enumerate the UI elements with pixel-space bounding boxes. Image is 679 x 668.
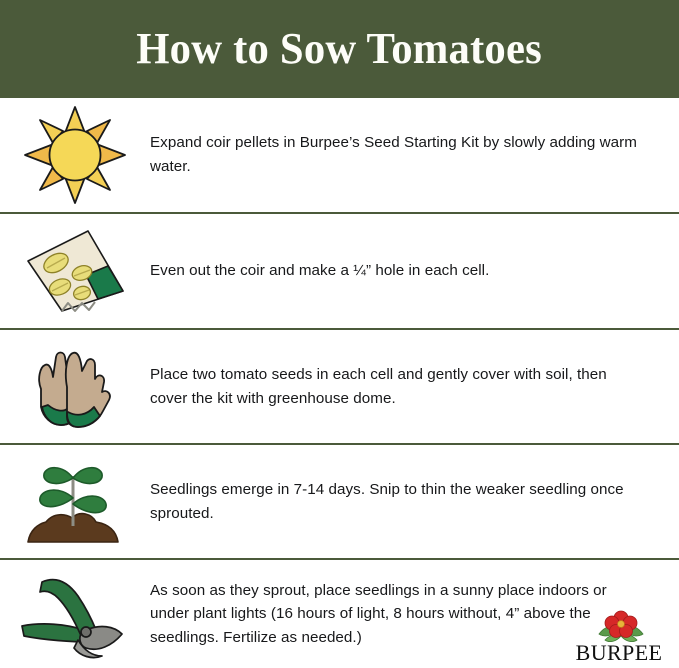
- step-row: Place two tomato seeds in each cell and …: [0, 330, 679, 445]
- step-row: Seedlings emerge in 7-14 days. Snip to t…: [0, 445, 679, 560]
- step-icon-cell: [0, 568, 150, 660]
- header-banner: How to Sow Tomatoes: [0, 0, 679, 98]
- step-text: Expand coir pellets in Burpee’s Seed Sta…: [150, 131, 679, 178]
- seed-packet-icon: [20, 225, 130, 317]
- gardening-gloves-icon: [23, 337, 127, 437]
- pruning-shears-icon: [16, 568, 134, 660]
- step-text: Place two tomato seeds in each cell and …: [150, 363, 679, 410]
- burpee-logo: BURPEE: [567, 610, 671, 666]
- step-icon-cell: [0, 225, 150, 317]
- step-row: Expand coir pellets in Burpee’s Seed Sta…: [0, 98, 679, 214]
- step-icon-cell: [0, 337, 150, 437]
- red-flower-icon: [597, 610, 645, 644]
- step-text: Seedlings emerge in 7-14 days. Snip to t…: [150, 478, 679, 525]
- page-title: How to Sow Tomatoes: [137, 27, 543, 71]
- seedling-icon: [20, 456, 130, 548]
- step-row: Even out the coir and make a ¼” hole in …: [0, 214, 679, 330]
- step-icon-cell: [0, 105, 150, 205]
- infographic-root: How to Sow Tomatoes: [0, 0, 679, 668]
- steps-list: Expand coir pellets in Burpee’s Seed Sta…: [0, 98, 679, 668]
- burpee-wordmark: BURPEE: [567, 642, 671, 664]
- step-icon-cell: [0, 456, 150, 548]
- step-text: Even out the coir and make a ¼” hole in …: [150, 259, 679, 283]
- sun-icon: [23, 105, 127, 205]
